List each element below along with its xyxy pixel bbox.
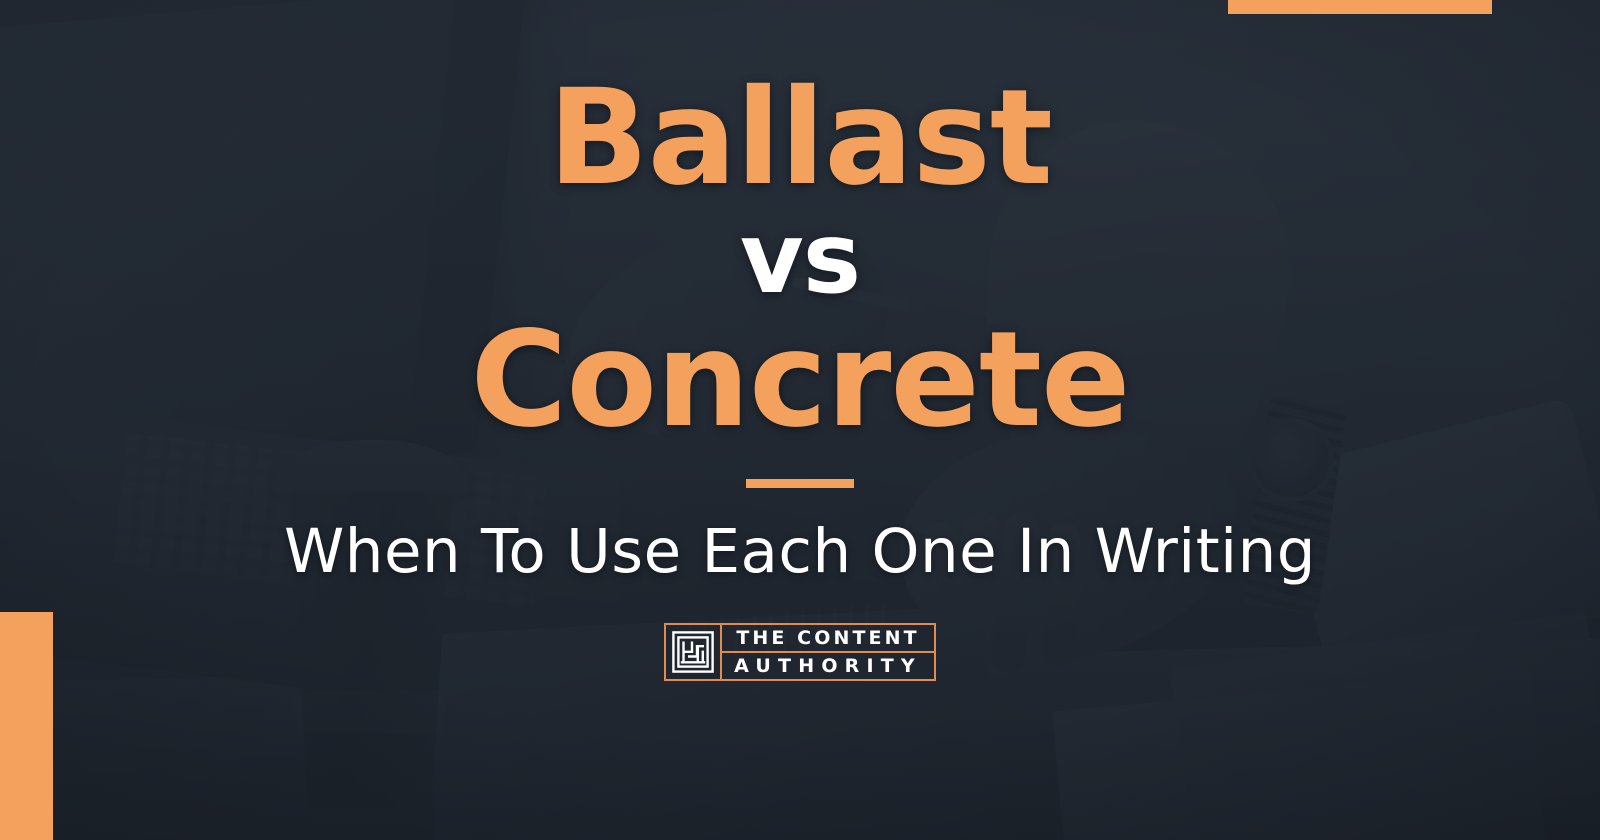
brand-logo-line-two: AUTHORITY <box>722 653 934 679</box>
poster-content: Ballast vs Concrete When To Use Each One… <box>0 0 1600 840</box>
brand-logo[interactable]: THE CONTENT AUTHORITY <box>664 623 936 681</box>
headline-versus: vs <box>470 203 1129 316</box>
orange-divider <box>746 479 854 488</box>
page-subtitle: When To Use Each One In Writing <box>284 518 1316 585</box>
maze-square-logo-mark-icon <box>666 625 722 679</box>
headline-term-one: Ballast <box>470 74 1129 203</box>
brand-logo-line-one: THE CONTENT <box>722 625 934 653</box>
brand-logo-wordmark: THE CONTENT AUTHORITY <box>722 625 934 679</box>
headline-term-two: Concrete <box>470 316 1129 445</box>
poster-canvas: Ballast vs Concrete When To Use Each One… <box>0 0 1600 840</box>
page-title: Ballast vs Concrete <box>470 0 1129 445</box>
